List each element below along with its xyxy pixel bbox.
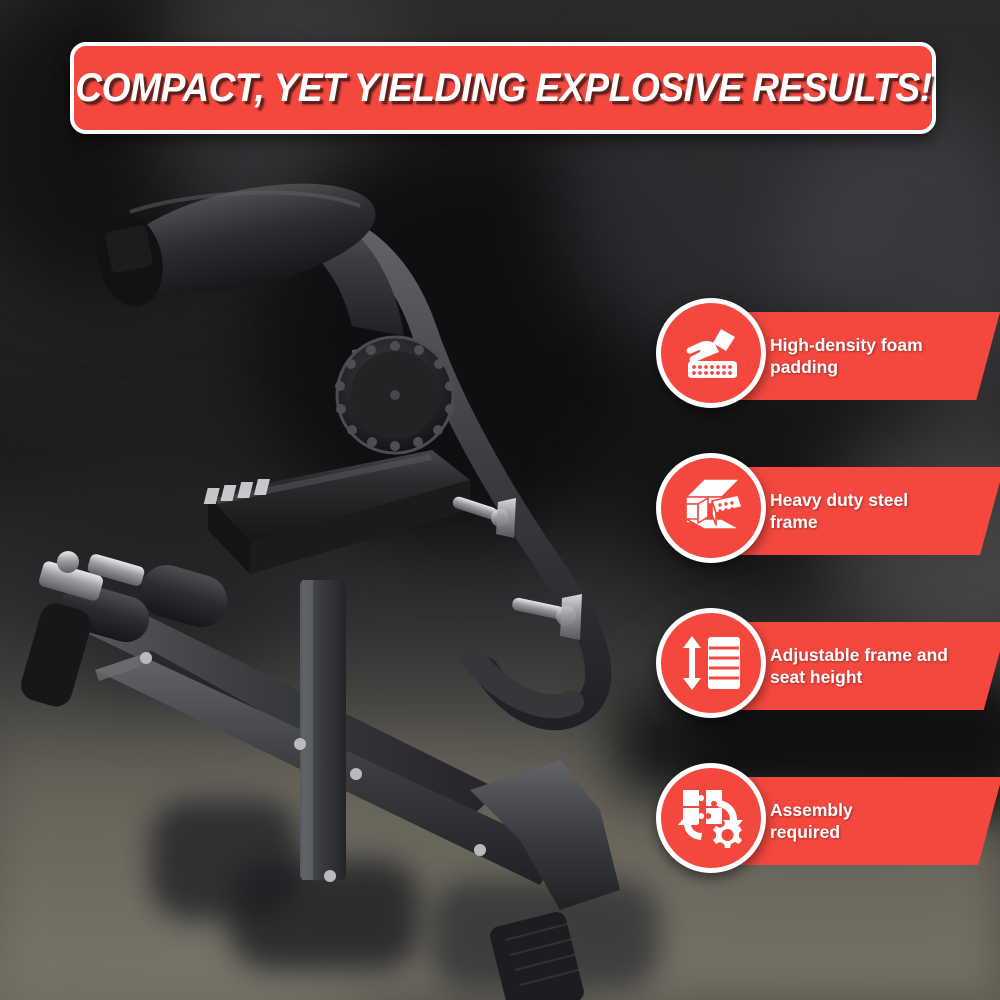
product-image: [0, 150, 660, 1000]
headline-banner: COMPACT, YET YIELDING EXPLOSIVE RESULTS!: [70, 42, 936, 134]
feature-callout-list: High-density foam padding: [646, 296, 1000, 908]
height-adjust-arrow-icon: [676, 628, 746, 698]
product-seat-pad: [204, 450, 470, 574]
feature-icon-badge: [656, 298, 766, 408]
feature-callout-adjustable-height: Adjustable frame and seat height: [646, 606, 1000, 726]
feature-label-line1: Adjustable frame and: [770, 645, 948, 665]
feature-label-line2: required: [770, 822, 840, 842]
feature-label-line2: padding: [770, 357, 838, 377]
feature-callout-steel-frame: Heavy duty steel frame: [646, 451, 1000, 571]
feature-label-line2: seat height: [770, 667, 862, 687]
infographic-canvas: COMPACT, YET YIELDING EXPLOSIVE RESULTS!…: [0, 0, 1000, 1000]
feature-label-line2: frame: [770, 512, 818, 532]
product-adjustment-pin: [451, 495, 516, 538]
feature-icon-badge: [656, 453, 766, 563]
feature-icon-badge: [656, 763, 766, 873]
feature-callout-assembly-required: Assembly required: [646, 761, 1000, 881]
product-adjustment-pin: [511, 594, 582, 640]
feature-icon-badge: [656, 608, 766, 718]
feature-label-line1: High-density foam: [770, 335, 923, 355]
feature-label-line1: Assembly: [770, 800, 853, 820]
headline-text: COMPACT, YET YIELDING EXPLOSIVE RESULTS!: [75, 66, 931, 111]
feature-callout-foam-padding: High-density foam padding: [646, 296, 1000, 416]
hand-pressing-foam-icon: [675, 317, 747, 389]
steel-i-beam-icon: [674, 471, 748, 545]
feature-label-line1: Heavy duty steel: [770, 490, 908, 510]
puzzle-gear-assembly-icon: [675, 782, 747, 854]
product-illustration: [0, 150, 660, 1000]
product-adjustment-dial: [335, 337, 455, 453]
